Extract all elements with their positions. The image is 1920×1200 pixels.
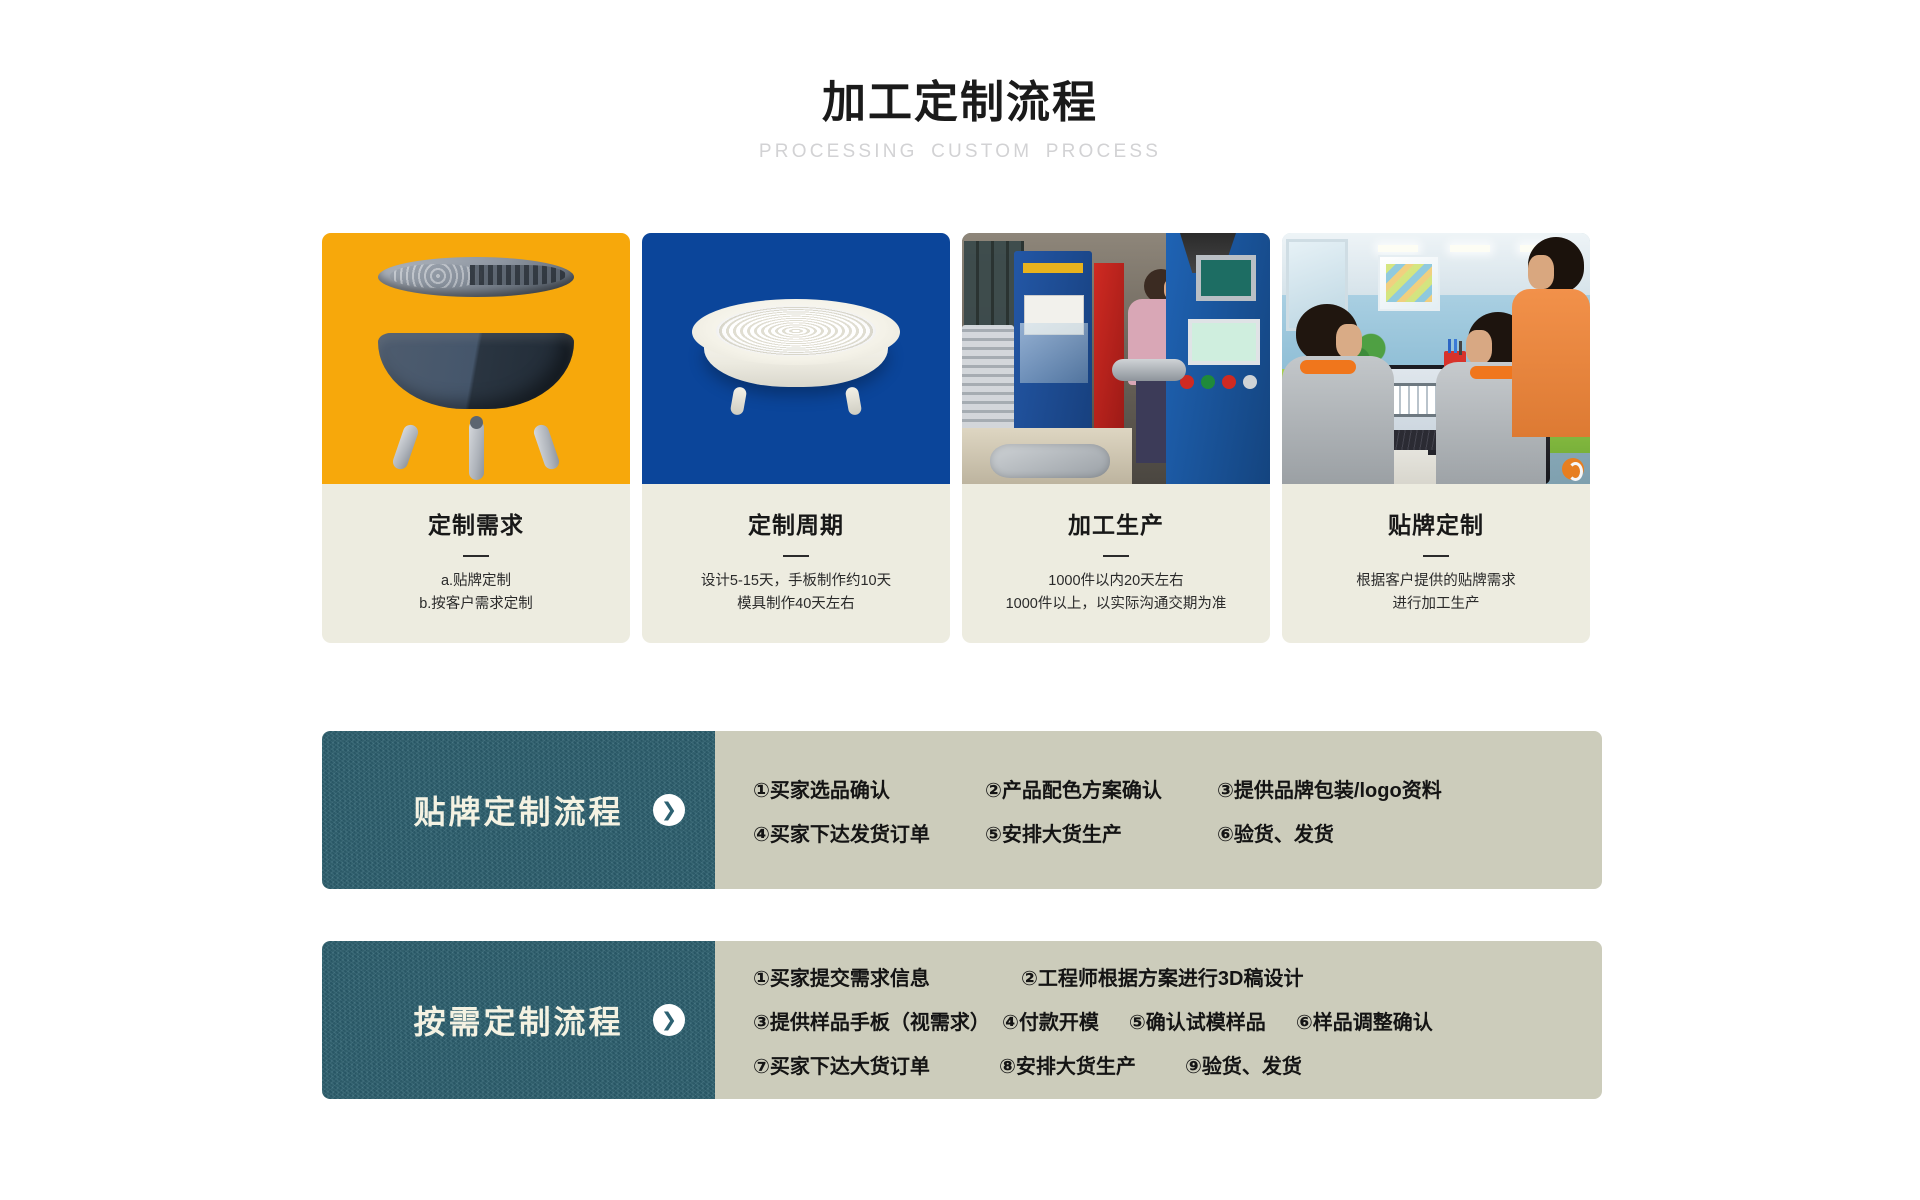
card-2-desc: 设计5-15天，手板制作约10天 模具制作40天左右 <box>654 570 938 617</box>
flow-step-9: ⑨验货、发货 <box>1185 1050 1302 1079</box>
flow-step-4: ④付款开模 <box>1002 1006 1099 1035</box>
flow-step-1: ①买家提交需求信息 <box>753 962 999 991</box>
office-worker-right <box>1512 237 1590 437</box>
machine-button-grey <box>1243 375 1257 389</box>
photo-watermark <box>1562 458 1584 480</box>
card-2-title: 定制周期 <box>654 506 938 540</box>
prototype-shape <box>692 299 900 395</box>
worker-center-face <box>1466 330 1492 364</box>
card-1-divider <box>463 555 489 557</box>
prototype-rings <box>716 306 876 356</box>
flow-banner-ondemand-label: 按需定制流程 ❯ <box>322 941 715 1099</box>
flow-step-3: ③提供样品手板（视需求） <box>753 1006 990 1035</box>
injection-molding-machine <box>1166 233 1270 484</box>
machine-button-red-2 <box>1222 375 1236 389</box>
card-1-desc-line-1: a.贴牌定制 <box>334 570 618 593</box>
flow-step-7: ⑦买家下达大货订单 <box>753 1050 999 1079</box>
card-4-desc-line-1: 根据客户提供的贴牌需求 <box>1294 570 1578 593</box>
machine-screen-upper <box>1196 255 1256 301</box>
card-2-image <box>642 233 950 484</box>
grill-bowl-shape <box>378 333 574 409</box>
page-header: 加工定制流程 PROCESSING CUSTOM PROCESS <box>0 0 1920 163</box>
card-3-image <box>962 233 1270 484</box>
flow-step-8: ⑧安排大货生产 <box>999 1050 1185 1079</box>
machine-button-green <box>1201 375 1215 389</box>
card-3-desc-line-1: 1000件以内20天左右 <box>974 570 1258 593</box>
flow-banner-ondemand-steps: ①买家提交需求信息 ②工程师根据方案进行3D稿设计 ③提供样品手板（视需求） ④… <box>715 941 1602 1099</box>
card-2-body: 定制周期 设计5-15天，手板制作约10天 模具制作40天左右 <box>642 484 950 643</box>
grill-leg-center <box>469 420 484 480</box>
machine-screen-lower <box>1188 319 1260 365</box>
worker-right-body <box>1512 289 1590 437</box>
process-card-2[interactable]: 定制周期 设计5-15天，手板制作约10天 模具制作40天左右 <box>642 233 950 643</box>
flow-step-2: ②工程师根据方案进行3D稿设计 <box>1021 962 1304 991</box>
card-1-title: 定制需求 <box>334 506 618 540</box>
ceiling-light-2 <box>1450 245 1490 252</box>
ceiling-light-1 <box>1378 245 1418 252</box>
flow-row: ⑦买家下达大货订单 ⑧安排大货生产 ⑨验货、发货 <box>753 1042 1576 1086</box>
page-subtitle: PROCESSING CUSTOM PROCESS <box>0 141 1920 163</box>
molded-part <box>990 444 1110 478</box>
worker-left-collar <box>1300 360 1356 374</box>
flow-step-6: ⑥验货、发货 <box>1217 818 1334 847</box>
flow-row: ④买家下达发货订单 ⑤安排大货生产 ⑥验货、发货 <box>753 810 1576 854</box>
chevron-right-icon: ❯ <box>653 794 685 826</box>
prototype-leg-right <box>845 386 863 416</box>
card-3-desc: 1000件以内20天左右 1000件以上，以实际沟通交期为准 <box>974 570 1258 617</box>
prototype-leg-left <box>730 386 748 416</box>
card-3-body: 加工生产 1000件以内20天左右 1000件以上，以实际沟通交期为准 <box>962 484 1270 643</box>
card-3-title: 加工生产 <box>974 506 1258 540</box>
card-2-divider <box>783 555 809 557</box>
flow-step-5: ⑤安排大货生产 <box>985 818 1217 847</box>
grill-leg-left <box>391 423 420 471</box>
office-poster <box>1378 255 1440 311</box>
factory-cabinet-glass <box>1020 323 1088 383</box>
flow-banner-oem-label: 贴牌定制流程 ❯ <box>322 731 715 889</box>
flow-step-5: ⑤确认试模样品 <box>1129 1006 1266 1035</box>
card-4-title: 贴牌定制 <box>1294 506 1578 540</box>
card-4-divider <box>1423 555 1449 557</box>
worker-left-body <box>1282 356 1394 484</box>
process-card-3[interactable]: 加工生产 1000件以内20天左右 1000件以上，以实际沟通交期为准 <box>962 233 1270 643</box>
card-4-image <box>1282 233 1590 484</box>
card-3-divider <box>1103 555 1129 557</box>
card-2-desc-line-1: 设计5-15天，手板制作约10天 <box>654 570 938 593</box>
flow-banner-oem-title: 贴牌定制流程 <box>413 787 623 833</box>
flow-banner-oem-steps: ①买家选品确认 ②产品配色方案确认 ③提供品牌包装/logo资料 ④买家下达发货… <box>715 731 1602 889</box>
flow-banner-oem: 贴牌定制流程 ❯ ①买家选品确认 ②产品配色方案确认 ③提供品牌包装/logo资… <box>322 731 1602 889</box>
prototype-top <box>692 299 900 365</box>
grill-leg-right <box>532 423 561 471</box>
card-4-desc: 根据客户提供的贴牌需求 进行加工生产 <box>1294 570 1578 617</box>
flow-step-1: ①买家选品确认 <box>753 774 985 803</box>
flow-step-3: ③提供品牌包装/logo资料 <box>1217 774 1442 803</box>
process-card-4[interactable]: 贴牌定制 根据客户提供的贴牌需求 进行加工生产 <box>1282 233 1590 643</box>
card-1-desc-line-2: b.按客户需求定制 <box>334 593 618 616</box>
flow-step-2: ②产品配色方案确认 <box>985 774 1217 803</box>
flow-step-6: ⑥样品调整确认 <box>1296 1006 1433 1035</box>
page-title: 加工定制流程 <box>0 78 1920 127</box>
card-4-desc-line-2: 进行加工生产 <box>1294 593 1578 616</box>
worker-left-face <box>1336 324 1362 358</box>
flow-banner-ondemand: 按需定制流程 ❯ ①买家提交需求信息 ②工程师根据方案进行3D稿设计 ③提供样品… <box>322 941 1602 1099</box>
office-worker-left <box>1282 304 1394 484</box>
flow-step-4: ④买家下达发货订单 <box>753 818 985 847</box>
page-root: 加工定制流程 PROCESSING CUSTOM PROCESS 定制需求 a.… <box>0 0 1920 1200</box>
flow-row: ①买家提交需求信息 ②工程师根据方案进行3D稿设计 <box>753 954 1576 998</box>
watermark-logo-icon <box>1562 458 1584 480</box>
process-card-list: 定制需求 a.贴牌定制 b.按客户需求定制 <box>322 233 1600 643</box>
process-card-1[interactable]: 定制需求 a.贴牌定制 b.按客户需求定制 <box>322 233 630 643</box>
card-3-desc-line-2: 1000件以上，以实际沟通交期为准 <box>974 593 1258 616</box>
chevron-right-icon: ❯ <box>653 1004 685 1036</box>
card-1-desc: a.贴牌定制 b.按客户需求定制 <box>334 570 618 617</box>
card-1-image <box>322 233 630 484</box>
machine-pipe <box>1112 359 1186 381</box>
card-4-body: 贴牌定制 根据客户提供的贴牌需求 进行加工生产 <box>1282 484 1590 643</box>
grill-lid-shape <box>378 257 574 297</box>
flow-row: ①买家选品确认 ②产品配色方案确认 ③提供品牌包装/logo资料 <box>753 766 1576 810</box>
card-1-body: 定制需求 a.贴牌定制 b.按客户需求定制 <box>322 484 630 643</box>
worker-right-face <box>1528 255 1554 289</box>
machine-button-row <box>1180 375 1258 393</box>
card-2-desc-line-2: 模具制作40天左右 <box>654 593 938 616</box>
factory-red-frame <box>1094 263 1124 433</box>
flow-banner-ondemand-title: 按需定制流程 <box>413 997 623 1043</box>
flow-row: ③提供样品手板（视需求） ④付款开模 ⑤确认试模样品 ⑥样品调整确认 <box>753 998 1576 1042</box>
